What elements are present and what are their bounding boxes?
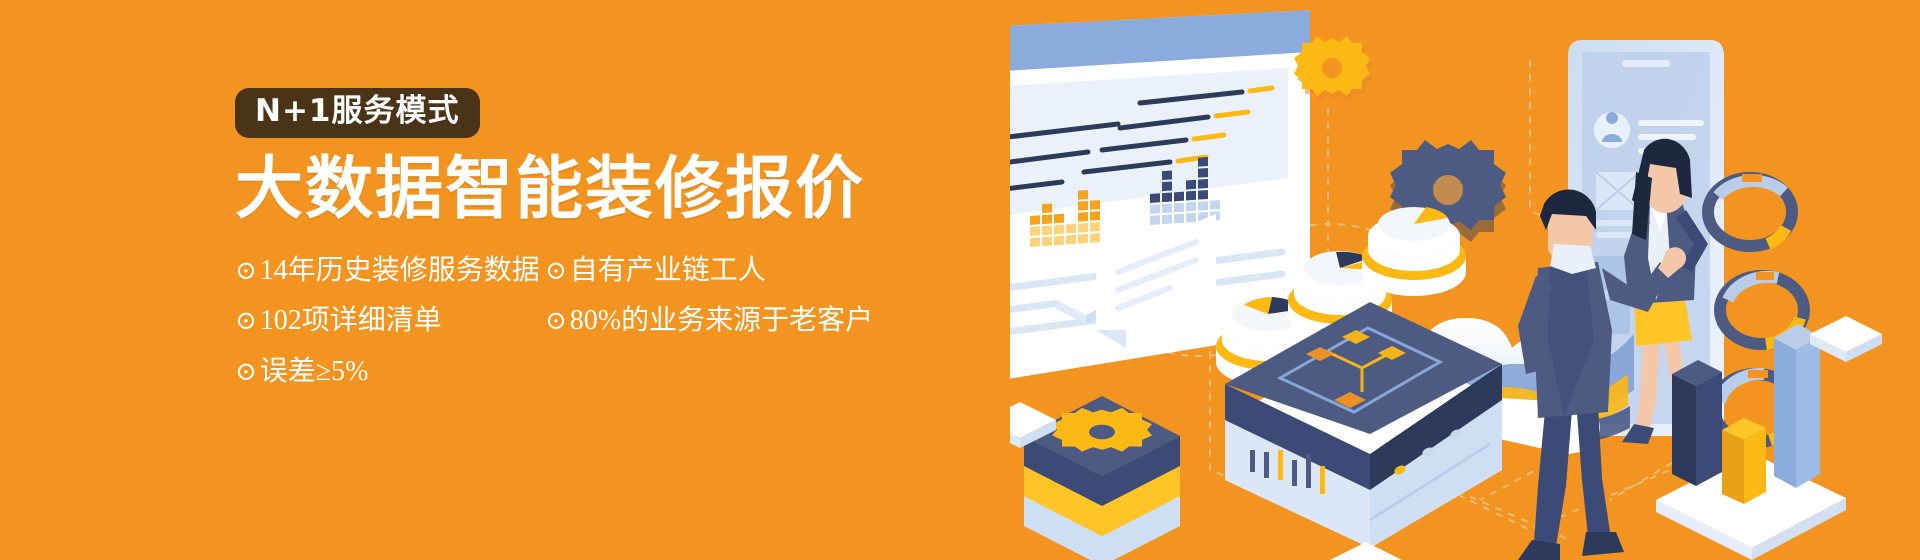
banner-root: N+1服务模式 大数据智能装修报价 ⊙ 14年历史装修服务数据 ⊙ 102项详细… [0,0,1920,560]
circled-dot-icon: ⊙ [235,258,257,284]
page-title: 大数据智能装修报价 [235,155,995,226]
circled-dot-icon: ⊙ [235,359,257,385]
circled-dot-icon: ⊙ [545,308,567,334]
list-item-label: 误差≥5% [260,356,369,388]
circled-dot-icon: ⊙ [545,258,567,284]
service-model-badge: N+1服务模式 [235,88,480,138]
gear-small-orange-icon [1294,36,1373,101]
list-item-label: 14年历史装修服务数据 [260,255,540,287]
feature-bullet-list: ⊙ 14年历史装修服务数据 ⊙ 102项详细清单 ⊙ 误差≥5% ⊙ 自有产业链… [235,255,995,388]
list-item: ⊙ 80%的业务来源于老客户 [545,305,905,337]
list-item: ⊙ 自有产业链工人 [545,255,905,287]
list-item: ⊙ 误差≥5% [235,356,545,388]
list-item: ⊙ 102项详细清单 [235,305,545,337]
list-item-label: 自有产业链工人 [570,255,766,287]
banner-copy: N+1服务模式 大数据智能装修报价 ⊙ 14年历史装修服务数据 ⊙ 102项详细… [235,88,995,388]
list-item: ⊙ 14年历史装修服务数据 [235,255,545,287]
circled-dot-icon: ⊙ [235,308,257,334]
isometric-illustration [1010,0,1920,560]
list-item-label: 80%的业务来源于老客户 [570,305,873,337]
list-item-label: 102项详细清单 [260,305,442,337]
